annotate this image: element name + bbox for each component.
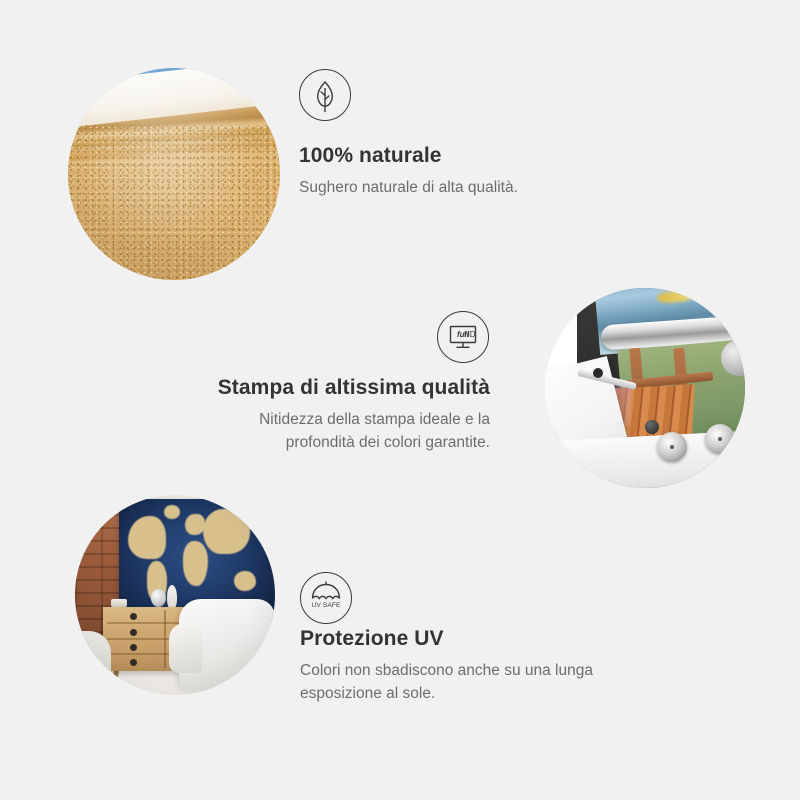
leaf-icon — [299, 69, 351, 121]
feature-text-uv-protection: Protezione UV Colori non sbadiscono anch… — [300, 627, 700, 706]
interior-world-map-photo — [75, 495, 275, 695]
fullhd-label-hd: HD — [464, 330, 476, 339]
printing-machine-photo — [545, 288, 745, 488]
feature-description-natural: Sughero naturale di alta qualità. — [299, 177, 719, 200]
uv-safe-umbrella-icon-glyph: UV SAFE — [301, 573, 351, 623]
cork-texture-photo — [68, 68, 280, 280]
feature-text-print-quality: Stampa di altissima qualità Nitidezza de… — [150, 376, 490, 455]
feature-description-uv-protection: Colori non sbadiscono anche su una lunga… — [300, 660, 660, 706]
uv-safe-label: UV SAFE — [312, 602, 341, 609]
feature-description-print-quality: Nitidezza della stampa ideale e la profo… — [200, 409, 490, 455]
printer-photo-knob — [645, 420, 659, 434]
printer-photo-arm-dot — [593, 368, 603, 378]
uv-safe-umbrella-icon: UV SAFE — [300, 572, 352, 624]
feature-text-natural: 100% naturale Sughero naturale di alta q… — [299, 144, 719, 200]
interior-photo-layers — [75, 495, 275, 695]
feature-title-uv-protection: Protezione UV — [300, 627, 700, 651]
printer-photo-layers — [545, 288, 745, 488]
leaf-icon-glyph — [300, 70, 350, 120]
cork-photo-shading — [68, 68, 280, 280]
feature-showcase: 100% naturale Sughero naturale di alta q… — [0, 0, 800, 800]
fullhd-icon-hd-text: HD — [438, 312, 488, 362]
interior-photo-vignette — [75, 495, 275, 695]
feature-title-print-quality: Stampa di altissima qualità — [150, 376, 490, 400]
printer-photo-wheel-left — [657, 432, 687, 462]
printer-photo-wheel-right — [705, 424, 735, 454]
feature-title-natural: 100% naturale — [299, 144, 719, 168]
cork-photo-layers — [68, 68, 280, 280]
fullhd-monitor-icon: full HD — [437, 311, 489, 363]
